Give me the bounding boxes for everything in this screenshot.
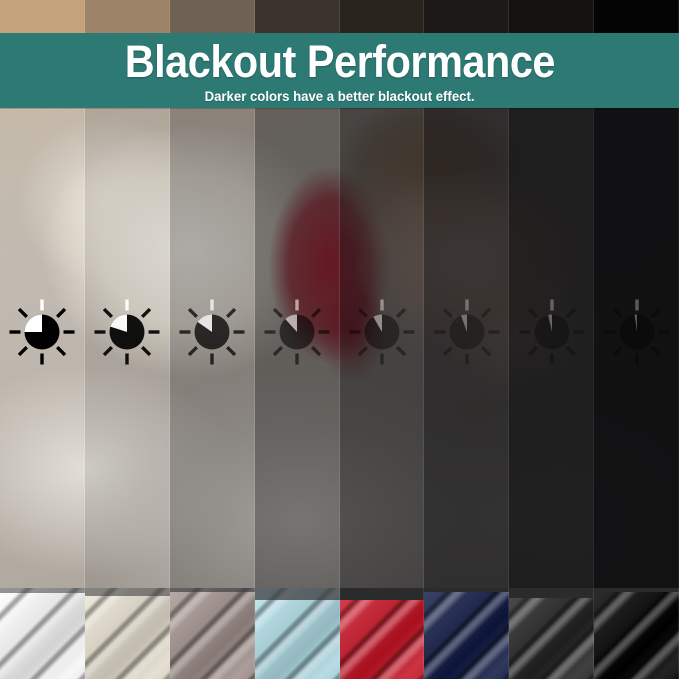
fabric-swatch-beige (85, 588, 170, 679)
brightness-sun-icon (176, 296, 248, 368)
fabric-swatch-fill (85, 588, 170, 679)
fabric-swatch-fill (594, 588, 679, 679)
brightness-icon-cell-6 (424, 296, 509, 368)
swatch-top-gap (509, 588, 594, 598)
fabric-swatch-strip (0, 588, 679, 679)
swatch-top-gap (594, 588, 679, 592)
fabric-swatch-fill (340, 588, 425, 679)
brightness-icon-cell-7 (509, 296, 594, 368)
fabric-swatch-fill (255, 588, 340, 679)
fabric-swatch-light-blue (255, 588, 340, 679)
swatch-top-gap (424, 588, 509, 592)
swatch-top-gap (0, 588, 85, 593)
fabric-swatch-fill (170, 588, 255, 679)
brightness-icon-cell-3 (170, 296, 255, 368)
brightness-icon-cell-8 (594, 296, 679, 368)
brightness-icon-cell-2 (85, 296, 170, 368)
brightness-icon-row (0, 296, 679, 368)
fabric-swatch-taupe (170, 588, 255, 679)
fabric-swatch-fill (424, 588, 509, 679)
fabric-swatch-fill (0, 588, 85, 679)
top-color-swatch-4 (255, 0, 340, 33)
headline-banner: Blackout Performance Darker colors have … (0, 33, 679, 108)
page-title: Blackout Performance (124, 39, 554, 84)
fabric-swatch-red (340, 588, 425, 679)
brightness-icon-cell-5 (340, 296, 425, 368)
top-color-swatch-6 (424, 0, 509, 33)
swatch-top-gap (170, 588, 255, 592)
brightness-sun-icon (91, 296, 163, 368)
blackout-performance-infographic: Blackout Performance Darker colors have … (0, 0, 679, 679)
fabric-swatch-navy (424, 588, 509, 679)
fabric-swatch-gray (509, 588, 594, 679)
fabric-swatch-fill (509, 588, 594, 679)
top-color-swatch-5 (340, 0, 425, 33)
page-subtitle: Darker colors have a better blackout eff… (205, 89, 475, 103)
fabric-swatch-white (0, 588, 85, 679)
brightness-sun-icon (346, 296, 418, 368)
brightness-sun-icon (601, 296, 673, 368)
swatch-top-gap (340, 588, 425, 600)
brightness-sun-icon (516, 296, 588, 368)
brightness-sun-icon (261, 296, 333, 368)
brightness-icon-cell-1 (0, 296, 85, 368)
brightness-icon-cell-4 (255, 296, 340, 368)
swatch-top-gap (85, 588, 170, 596)
top-color-strip (0, 0, 679, 33)
brightness-sun-icon (431, 296, 503, 368)
swatch-top-gap (255, 588, 340, 600)
top-color-swatch-3 (170, 0, 255, 33)
top-color-swatch-7 (509, 0, 594, 33)
brightness-sun-icon (6, 296, 78, 368)
top-color-swatch-2 (85, 0, 170, 33)
top-color-swatch-8 (594, 0, 679, 33)
fabric-swatch-black (594, 588, 679, 679)
top-color-swatch-1 (0, 0, 85, 33)
